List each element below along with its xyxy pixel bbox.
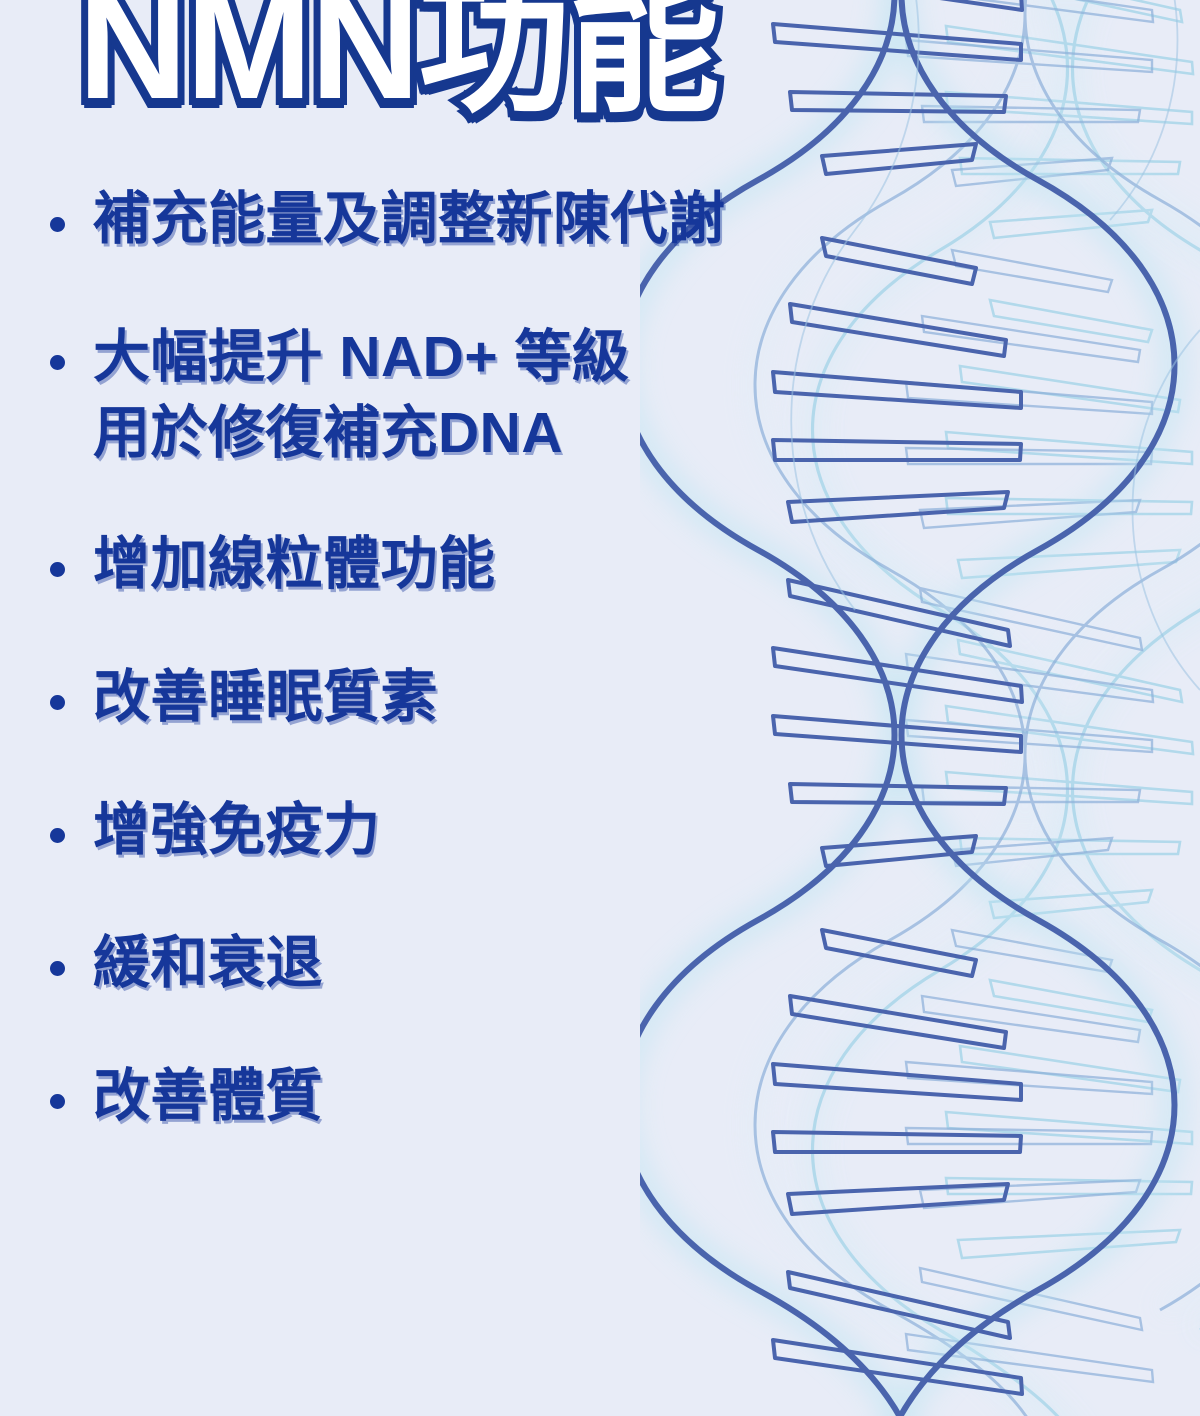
- benefit-text: 增強免疫力: [93, 793, 880, 869]
- bullet-dot-icon: [50, 961, 65, 976]
- bullet-dot-icon: [50, 1094, 65, 1109]
- benefit-line: 緩和衰退: [93, 926, 880, 1002]
- bullet-dot-icon: [50, 562, 65, 577]
- bullet-dot-icon: [50, 217, 65, 232]
- benefit-line: 改善體質: [93, 1059, 880, 1135]
- benefit-text: 改善睡眠質素: [93, 660, 880, 736]
- benefit-text: 改善體質: [93, 1059, 880, 1135]
- page-title: NMN功能: [78, 0, 778, 150]
- page-title-text: NMN功能: [78, 0, 778, 122]
- list-item: 緩和衰退: [50, 926, 880, 1002]
- benefit-line: 增加線粒體功能: [93, 527, 880, 603]
- list-item: 增強免疫力: [50, 793, 880, 869]
- bullet-dot-icon: [50, 828, 65, 843]
- benefit-text: 補充能量及調整新陳代謝: [93, 182, 880, 258]
- list-item: 大幅提升 NAD+ 等級 用於修復補充DNA: [50, 320, 880, 472]
- benefit-line: 大幅提升 NAD+ 等級: [93, 320, 880, 396]
- benefit-line: 用於修復補充DNA: [93, 396, 880, 472]
- benefit-list: 補充能量及調整新陳代謝 大幅提升 NAD+ 等級 用於修復補充DNA 增加線粒體…: [50, 182, 880, 1134]
- list-item: 改善睡眠質素: [50, 660, 880, 736]
- list-item: 增加線粒體功能: [50, 527, 880, 603]
- list-item: 補充能量及調整新陳代謝: [50, 182, 880, 258]
- benefit-line: 改善睡眠質素: [93, 660, 880, 736]
- bullet-dot-icon: [50, 695, 65, 710]
- benefit-line: 增強免疫力: [93, 793, 880, 869]
- benefit-text: 增加線粒體功能: [93, 527, 880, 603]
- benefit-text: 大幅提升 NAD+ 等級 用於修復補充DNA: [93, 320, 880, 472]
- list-item: 改善體質: [50, 1059, 880, 1135]
- poster-canvas: NMN功能 補充能量及調整新陳代謝 大幅提升 NAD+ 等級 用於修復補充DNA…: [0, 0, 1200, 1416]
- benefit-line: 補充能量及調整新陳代謝: [93, 182, 880, 258]
- bullet-dot-icon: [50, 355, 65, 370]
- benefit-text: 緩和衰退: [93, 926, 880, 1002]
